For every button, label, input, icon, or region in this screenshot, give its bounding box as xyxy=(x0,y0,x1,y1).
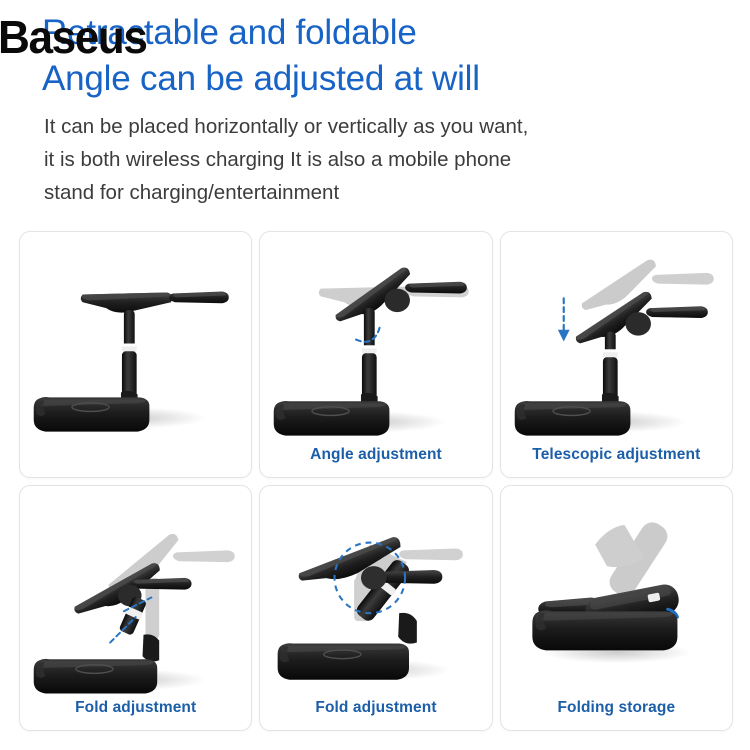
title-line-1: Retractable and foldable xyxy=(42,10,742,56)
product-illustration-telescopic xyxy=(501,232,732,477)
product-illustration-fold-b xyxy=(260,486,491,731)
panel-fold-adjustment-a: Fold adjustment xyxy=(19,485,252,732)
down-arrow-icon xyxy=(558,298,570,341)
panel-caption: Folding storage xyxy=(501,699,732,717)
description-text: It can be placed horizontally or vertica… xyxy=(44,110,724,210)
product-illustration-storage xyxy=(501,486,732,731)
page-title: Retractable and foldable Angle can be ad… xyxy=(42,10,742,101)
feature-grid: Angle adjustment xyxy=(19,231,733,731)
product-illustration-fold-a xyxy=(20,486,251,731)
panel-folding-storage: Folding storage xyxy=(500,485,733,732)
panel-fold-adjustment-b: Fold adjustment xyxy=(259,485,492,732)
panel-caption: Fold adjustment xyxy=(260,699,491,717)
panel-extended xyxy=(19,231,252,478)
panel-caption: Telescopic adjustment xyxy=(501,446,732,464)
product-illustration-extended xyxy=(20,232,251,477)
description-line-1: It can be placed horizontally or vertica… xyxy=(44,110,724,143)
title-line-2: Angle can be adjusted at will xyxy=(42,56,742,102)
description-line-3: stand for charging/entertainment xyxy=(44,176,724,209)
panel-caption: Fold adjustment xyxy=(20,699,251,717)
panel-caption: Angle adjustment xyxy=(260,446,491,464)
product-feature-image: Retractable and foldable Angle can be ad… xyxy=(0,0,750,750)
panel-telescopic-adjustment: Telescopic adjustment xyxy=(500,231,733,478)
panel-angle-adjustment: Angle adjustment xyxy=(259,231,492,478)
product-illustration-angle xyxy=(260,232,491,477)
brand-watermark: Baseus xyxy=(0,14,146,60)
description-line-2: it is both wireless charging It is also … xyxy=(44,143,724,176)
